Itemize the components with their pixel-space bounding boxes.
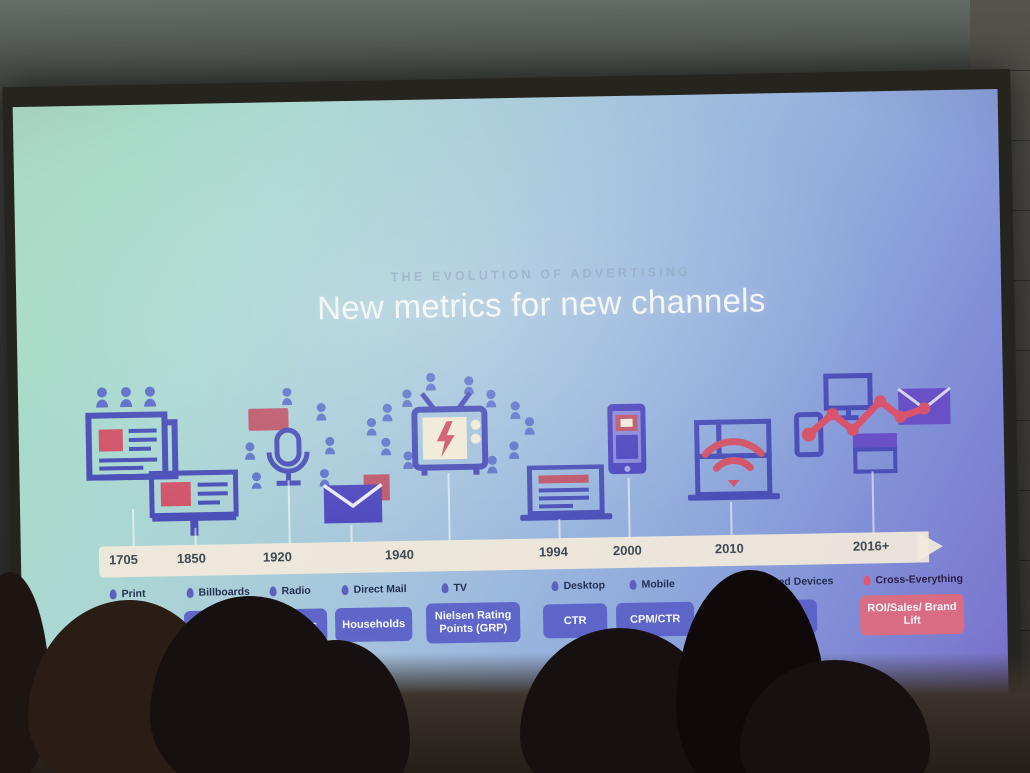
channel-text: Cross-Everything [875, 573, 963, 587]
channel-dot-icon [551, 581, 558, 591]
channel-dot-icon [863, 575, 870, 585]
channel-dot-icon [629, 580, 636, 590]
channel-label-print: Print [110, 588, 146, 601]
channel-label-mobile: Mobile [629, 578, 674, 591]
timeline-bar [99, 531, 929, 577]
channel-text: Desktop [563, 579, 605, 592]
timeline-arrow [917, 531, 944, 561]
channel-text: TV [453, 582, 467, 594]
channel-label-cross-everything: Cross-Everything [863, 573, 963, 587]
stem-radio [288, 480, 291, 544]
channel-dot-icon [187, 588, 194, 598]
timeline-year-2000: 2000 [613, 543, 642, 559]
stem-desktop [558, 519, 560, 539]
laptop-icon [517, 464, 618, 524]
timeline-year-1850: 1850 [177, 551, 206, 567]
stem-tv [447, 473, 450, 541]
channel-label-radio: Radio [269, 585, 310, 598]
channel-label-desktop: Desktop [551, 579, 605, 592]
channel-label-direct-mail: Direct Mail [341, 583, 406, 596]
channel-label-tv: TV [441, 582, 467, 594]
channel-text: Radio [281, 585, 310, 598]
metric-pill-roi-sales-brand-lift[interactable]: ROI/Sales/ Brand Lift [860, 594, 965, 636]
metric-pill-households[interactable]: Households [335, 607, 413, 642]
cross-channel-network-icon [790, 366, 958, 477]
timeline-year-2016: 2016+ [853, 538, 890, 554]
timeline-year-1705: 1705 [109, 552, 138, 568]
channel-text: Direct Mail [353, 583, 406, 596]
stem-cross-everything [871, 471, 874, 533]
smartphone-icon [604, 401, 651, 478]
timeline-year-1940: 1940 [385, 547, 414, 563]
stem-mobile [628, 478, 631, 538]
channel-text: Mobile [641, 578, 674, 591]
stem-direct-mail [350, 525, 352, 543]
presentation-room-photo: THE EVOLUTION OF ADVERTISING New metrics… [0, 0, 1030, 773]
timeline-year-1920: 1920 [263, 549, 292, 565]
timeline-year-1994: 1994 [539, 544, 568, 560]
channel-dot-icon [341, 585, 348, 595]
stem-billboards [194, 528, 196, 546]
channel-dot-icon [110, 589, 117, 599]
television-icon [360, 369, 542, 484]
channel-text: Print [122, 588, 146, 600]
slide-headline: New metrics for new channels [221, 280, 862, 330]
metric-pill-nielsen[interactable]: Nielsen Rating Points (GRP) [426, 602, 521, 644]
wifi-laptop-icon [680, 415, 782, 509]
channel-dot-icon [441, 583, 448, 593]
channel-dot-icon [270, 586, 277, 596]
timeline-year-2010: 2010 [715, 541, 744, 557]
